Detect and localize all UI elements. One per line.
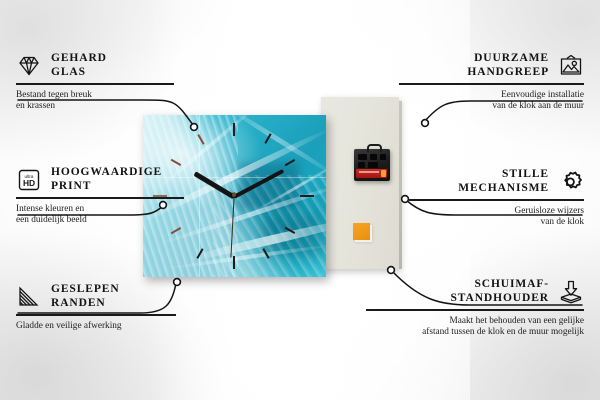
callout-divider bbox=[399, 83, 584, 85]
mechanism-detail bbox=[358, 154, 367, 160]
callout-divider bbox=[366, 309, 584, 311]
callout-divider bbox=[16, 314, 176, 316]
callout-duurzame-handgreep[interactable]: DUURZAME HANDGREEP Eenvoudige installati… bbox=[399, 52, 584, 113]
callout-gehard-glas[interactable]: GEHARD GLAS Bestand tegen breuk en krass… bbox=[16, 52, 174, 113]
callout-title-line1: HOOGWAARDIGE bbox=[51, 166, 162, 180]
callout-divider bbox=[16, 197, 184, 199]
callout-title-line2: RANDEN bbox=[51, 297, 120, 311]
callout-description: Gladde en veilige afwerking bbox=[16, 321, 176, 333]
mechanism-detail bbox=[380, 154, 386, 160]
callout-desc-line2: afstand tussen de klok en de muur mogeli… bbox=[366, 327, 584, 339]
callout-desc-line2: een duidelijk beeld bbox=[16, 215, 184, 227]
callout-title-line2: STANDHOUDER bbox=[450, 292, 549, 306]
battery-label bbox=[359, 171, 379, 173]
callout-hoogwaardige-print[interactable]: ultra HD HOOGWAARDIGE PRINT Intense kleu… bbox=[16, 166, 184, 227]
callout-title-line1: SCHUIMAF- bbox=[450, 278, 549, 292]
mechanism-hook-icon bbox=[367, 144, 382, 152]
callout-desc-line2: en krassen bbox=[16, 101, 174, 113]
callout-description: Eenvoudige installatie van de klok aan d… bbox=[399, 90, 584, 113]
callout-title-line2: HANDGREEP bbox=[467, 66, 549, 80]
hand-center-cap bbox=[232, 193, 236, 197]
callout-desc-line1: Bestand tegen breuk bbox=[16, 90, 174, 102]
callout-divider bbox=[16, 83, 174, 85]
foam-spacer-icon bbox=[558, 280, 584, 304]
callout-title: STILLE MECHANISME bbox=[458, 168, 549, 195]
callout-desc-line2: van de klok aan de muur bbox=[399, 101, 584, 113]
hour-marker-12 bbox=[233, 123, 235, 136]
battery bbox=[356, 169, 387, 178]
callout-desc-line1: Maakt het behouden van een gelijke bbox=[366, 316, 584, 328]
foam-spacer bbox=[353, 223, 370, 240]
callout-title: GESLEPEN RANDEN bbox=[51, 283, 120, 310]
mechanism-detail bbox=[358, 162, 365, 168]
clock-mechanism bbox=[354, 149, 390, 181]
callout-divider bbox=[409, 199, 584, 201]
clock-back-panel bbox=[321, 97, 399, 269]
callout-schuimafstandhouder[interactable]: SCHUIMAF- STANDHOUDER Maakt het behouden… bbox=[366, 278, 584, 339]
callout-title: GEHARD GLAS bbox=[51, 52, 107, 79]
connector-dot-5 bbox=[402, 196, 409, 203]
callout-title-line1: GESLEPEN bbox=[51, 283, 120, 297]
mechanism-detail bbox=[368, 162, 378, 168]
callout-title-line2: PRINT bbox=[51, 180, 162, 194]
callout-desc-line1: Eenvoudige installatie bbox=[399, 90, 584, 102]
callout-title: DUURZAME HANDGREEP bbox=[467, 52, 549, 79]
callout-title-line1: STILLE bbox=[458, 168, 549, 182]
callout-title-line1: GEHARD bbox=[51, 52, 107, 66]
mechanism-detail bbox=[370, 154, 377, 160]
callout-desc-line1: Geruisloze wijzers bbox=[409, 206, 584, 218]
infographic-canvas: GEHARD GLAS Bestand tegen breuk en krass… bbox=[0, 0, 600, 400]
callout-geslepen-randen[interactable]: GESLEPEN RANDEN Gladde en veilige afwerk… bbox=[16, 283, 176, 332]
diamond-icon bbox=[16, 54, 42, 78]
callout-header: SCHUIMAF- STANDHOUDER bbox=[366, 278, 584, 305]
callout-header: STILLE MECHANISME bbox=[409, 168, 584, 195]
callout-title-line2: MECHANISME bbox=[458, 182, 549, 196]
callout-description: Geruisloze wijzers van de klok bbox=[409, 206, 584, 229]
ultra-hd-icon: ultra HD bbox=[16, 168, 42, 192]
callout-title: HOOGWAARDIGE PRINT bbox=[51, 166, 162, 193]
callout-title: SCHUIMAF- STANDHOUDER bbox=[450, 278, 549, 305]
callout-header: DUURZAME HANDGREEP bbox=[399, 52, 584, 79]
hour-marker-6 bbox=[233, 256, 235, 269]
callout-description: Intense kleuren en een duidelijk beeld bbox=[16, 204, 184, 227]
svg-text:HD: HD bbox=[23, 178, 35, 188]
callout-header: ultra HD HOOGWAARDIGE PRINT bbox=[16, 166, 184, 193]
gear-icon bbox=[558, 170, 584, 194]
callout-title-line1: DUURZAME bbox=[467, 52, 549, 66]
bevelled-edge-icon bbox=[16, 285, 42, 309]
callout-stille-mechanisme[interactable]: STILLE MECHANISME Geruisloze wijzers van… bbox=[409, 168, 584, 229]
hour-marker-3 bbox=[300, 195, 314, 197]
hanging-picture-icon bbox=[558, 54, 584, 78]
connector-dot-4 bbox=[422, 120, 429, 127]
callout-description: Bestand tegen breuk en krassen bbox=[16, 90, 174, 113]
callout-desc-line1: Intense kleuren en bbox=[16, 204, 184, 216]
callout-desc-line2: van de klok bbox=[409, 217, 584, 229]
callout-description: Maakt het behouden van een gelijke afsta… bbox=[366, 316, 584, 339]
callout-header: GEHARD GLAS bbox=[16, 52, 174, 79]
callout-header: GESLEPEN RANDEN bbox=[16, 283, 176, 310]
callout-desc-line1: Gladde en veilige afwerking bbox=[16, 321, 176, 333]
callout-title-line2: GLAS bbox=[51, 66, 107, 80]
